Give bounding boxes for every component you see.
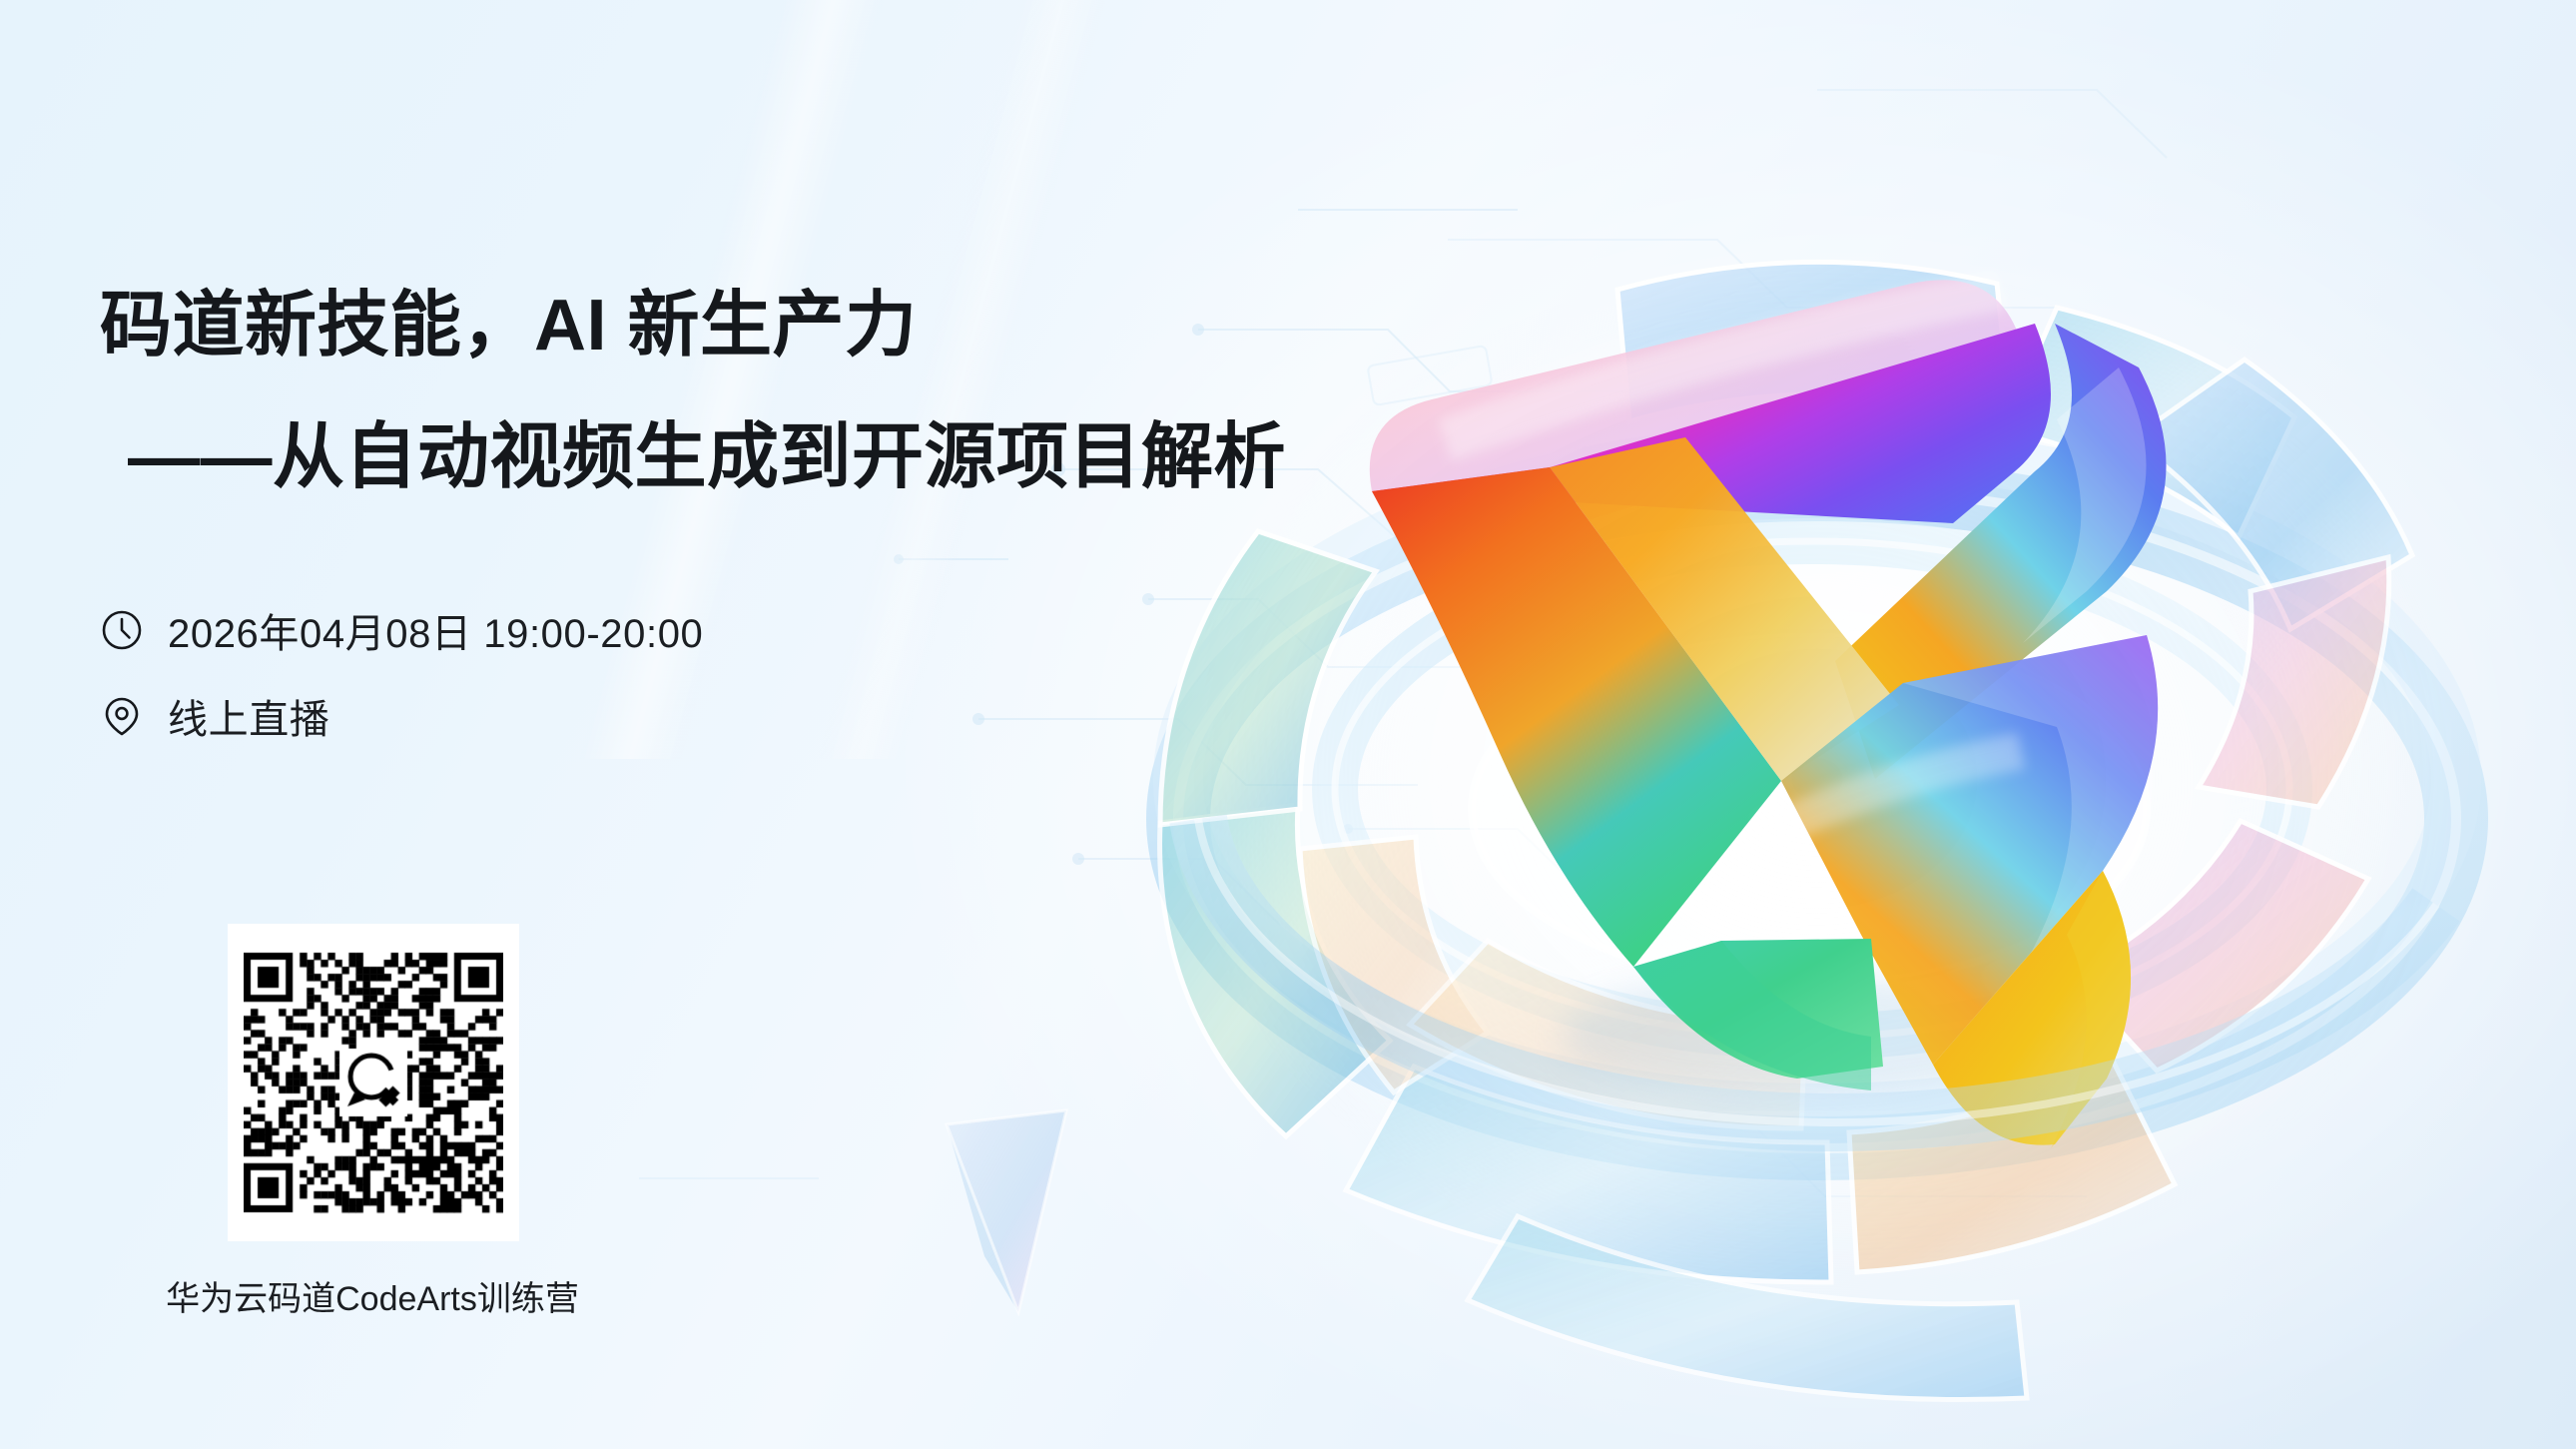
crystal-shard-decoration: [939, 1106, 1088, 1316]
event-datetime-label: 2026年04月08日 19:00-20:00: [168, 601, 703, 659]
event-location-label: 线上直播: [168, 687, 329, 745]
page-title-line-2: ——从自动视频生成到开源项目解析: [100, 409, 1438, 505]
event-datetime-row: 2026年04月08日 19:00-20:00: [100, 601, 1438, 659]
ribbon-z-shape: [1370, 270, 2167, 1148]
event-location-row: 线上直播: [100, 687, 1438, 745]
qr-block: 华为云码道CodeArts训练营: [228, 924, 607, 1320]
map-pin-icon: [100, 694, 144, 738]
qr-caption: 华为云码道CodeArts训练营: [138, 1271, 607, 1320]
clock-icon: [100, 608, 144, 652]
poster-content: 码道新技能，AI 新生产力 ——从自动视频生成到开源项目解析 2026年04月0…: [100, 278, 1438, 773]
mid-glass-ring: [1335, 541, 2289, 1037]
qr-code-canvas[interactable]: [244, 942, 503, 1223]
event-details: 2026年04月08日 19:00-20:00 线上直播: [100, 601, 1438, 745]
qr-code[interactable]: [228, 924, 519, 1241]
page-title-line-1: 码道新技能，AI 新生产力: [100, 278, 1438, 373]
event-poster: 码道新技能，AI 新生产力 ——从自动视频生成到开源项目解析 2026年04月0…: [0, 0, 2576, 1449]
